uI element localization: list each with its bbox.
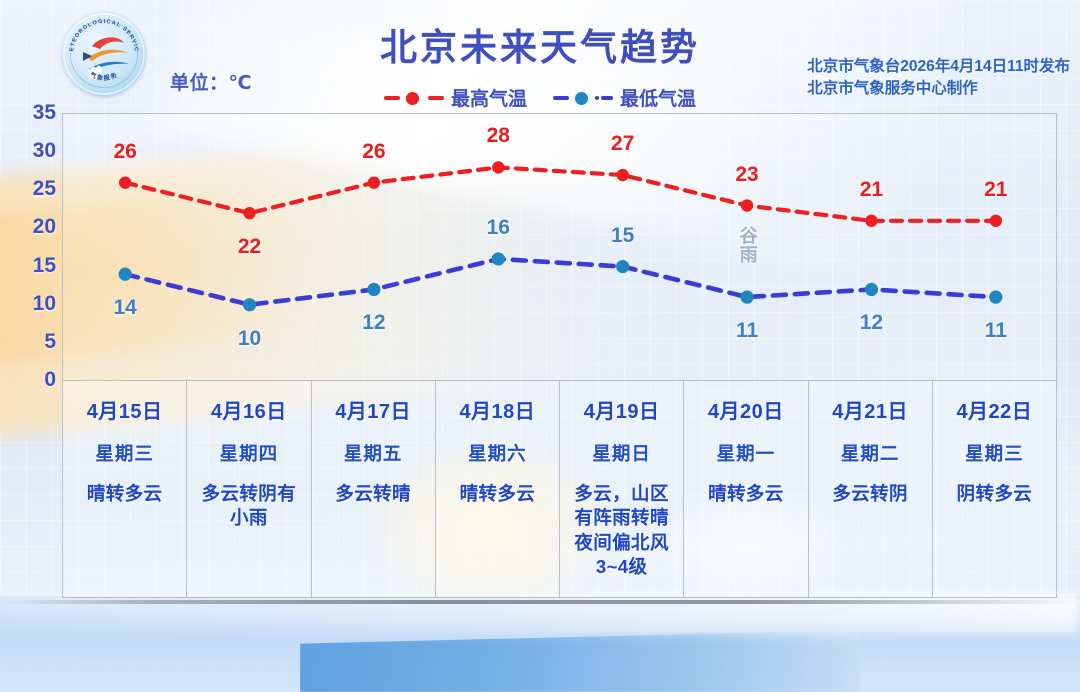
chart-lines-svg — [63, 114, 1058, 381]
value-label-min: 12 — [362, 311, 385, 335]
forecast-table: 4月15日星期三晴转多云4月16日星期四多云转阴有小雨4月17日星期五多云转晴4… — [62, 380, 1057, 598]
background-bottom-band — [0, 596, 1080, 692]
forecast-date: 4月21日 — [815, 395, 926, 424]
data-point-max — [368, 176, 380, 188]
forecast-day-column[interactable]: 4月21日星期二多云转阴 — [809, 381, 933, 597]
y-axis-tick-10: 10 — [33, 292, 56, 316]
data-point-max — [741, 199, 753, 211]
data-point-min — [865, 283, 878, 296]
y-axis-tick-0: 0 — [44, 368, 56, 392]
background-bottom-cloud — [0, 594, 1080, 634]
svg-text:气象服务: 气象服务 — [88, 70, 120, 82]
y-axis-tick-15: 15 — [33, 254, 56, 278]
data-point-min — [243, 298, 256, 311]
forecast-day-column[interactable]: 4月16日星期四多云转阴有小雨 — [187, 381, 311, 597]
data-point-max — [616, 169, 628, 181]
issue-line-1: 北京市气象台2026年4月14日11时发布 — [807, 56, 1070, 78]
forecast-day-column[interactable]: 4月19日星期日多云，山区有阵雨转晴夜间偏北风3~4级 — [560, 381, 684, 597]
forecast-day-column[interactable]: 4月22日星期三阴转多云 — [933, 381, 1056, 597]
y-axis-tick-5: 5 — [44, 330, 56, 354]
background-horizon-line — [0, 600, 1080, 604]
forecast-date: 4月16日 — [193, 395, 304, 424]
forecast-day-column[interactable]: 4月18日星期六晴转多云 — [436, 381, 560, 597]
forecast-weekday: 星期四 — [193, 440, 304, 466]
value-label-max: 23 — [735, 163, 758, 187]
data-point-min — [492, 252, 505, 265]
data-point-max — [990, 215, 1002, 227]
forecast-weekday: 星期六 — [442, 440, 553, 466]
legend-marker-min-temp-icon — [553, 91, 613, 105]
forecast-date: 4月15日 — [69, 395, 180, 424]
forecast-date: 4月18日 — [442, 395, 553, 424]
forecast-condition: 多云，山区有阵雨转晴夜间偏北风3~4级 — [566, 482, 677, 580]
value-label-max: 22 — [238, 235, 261, 259]
data-point-max — [119, 176, 131, 188]
series-line-min — [125, 259, 996, 305]
forecast-condition: 晴转多云 — [442, 482, 553, 506]
forecast-condition: 阴转多云 — [939, 482, 1050, 506]
value-label-min: 10 — [238, 327, 261, 351]
forecast-date: 4月22日 — [939, 395, 1050, 424]
y-axis-tick-35: 35 — [33, 101, 56, 125]
forecast-date: 4月17日 — [318, 395, 429, 424]
forecast-condition: 多云转阴有小雨 — [193, 482, 304, 531]
value-label-max: 26 — [114, 140, 137, 164]
y-axis: 35302520151050 — [8, 113, 56, 380]
value-label-max: 21 — [984, 178, 1007, 202]
value-label-max: 28 — [487, 124, 510, 148]
value-label-min: 12 — [860, 311, 883, 335]
legend-marker-max-temp-icon — [384, 91, 444, 105]
forecast-weekday: 星期三 — [69, 440, 180, 466]
value-label-min: 11 — [736, 319, 758, 343]
forecast-date: 4月20日 — [690, 395, 801, 424]
forecast-condition: 晴转多云 — [690, 482, 801, 506]
forecast-day-column[interactable]: 4月20日星期一晴转多云 — [684, 381, 808, 597]
data-point-min — [367, 283, 380, 296]
forecast-weekday: 星期日 — [566, 440, 677, 466]
chart-series-layer: 26222628272321211410121615111211谷雨 — [63, 114, 1056, 380]
legend-item-max-temp: 最高气温 — [384, 84, 527, 111]
value-label-max: 27 — [611, 132, 634, 156]
forecast-day-column[interactable]: 4月15日星期三晴转多云 — [63, 381, 187, 597]
value-label-max: 21 — [860, 178, 883, 202]
forecast-weekday: 星期一 — [690, 440, 801, 466]
value-label-min: 15 — [611, 224, 634, 248]
data-point-min — [119, 268, 132, 281]
y-axis-tick-25: 25 — [33, 177, 56, 201]
y-axis-tick-30: 30 — [33, 139, 56, 163]
value-label-max: 26 — [362, 140, 385, 164]
solar-term-annotation: 谷雨 — [738, 226, 757, 264]
forecast-condition: 多云转晴 — [318, 482, 429, 506]
legend-label-max-temp: 最高气温 — [451, 84, 527, 111]
logo-inner-text: 气象服务 — [88, 70, 120, 82]
value-label-min: 14 — [114, 296, 137, 320]
background-bottom-structure — [300, 630, 860, 692]
data-point-max — [865, 215, 877, 227]
forecast-date: 4月19日 — [566, 395, 677, 424]
data-point-max — [492, 161, 504, 173]
forecast-condition: 多云转阴 — [815, 482, 926, 506]
data-point-min — [616, 260, 629, 273]
forecast-weekday: 星期二 — [815, 440, 926, 466]
background-bottom-haze — [0, 596, 1080, 692]
forecast-weekday: 星期五 — [318, 440, 429, 466]
value-label-min: 11 — [985, 319, 1007, 343]
data-point-min — [989, 290, 1002, 303]
y-axis-tick-20: 20 — [33, 215, 56, 239]
chart-legend: 最高气温 最低气温 — [0, 84, 1080, 111]
data-point-min — [740, 290, 753, 303]
forecast-day-column[interactable]: 4月17日星期五多云转晴 — [312, 381, 436, 597]
weather-trend-infographic: METEOROLOGICAL SERVICE 气象服务 北京未来天气趋势 单位：… — [0, 0, 1080, 692]
legend-item-min-temp: 最低气温 — [553, 84, 696, 111]
legend-label-min-temp: 最低气温 — [620, 84, 696, 111]
chart-plot-area: 26222628272321211410121615111211谷雨 — [62, 113, 1057, 380]
value-label-min: 16 — [487, 216, 510, 240]
data-point-max — [243, 207, 255, 219]
forecast-condition: 晴转多云 — [69, 482, 180, 506]
forecast-weekday: 星期三 — [939, 440, 1050, 466]
